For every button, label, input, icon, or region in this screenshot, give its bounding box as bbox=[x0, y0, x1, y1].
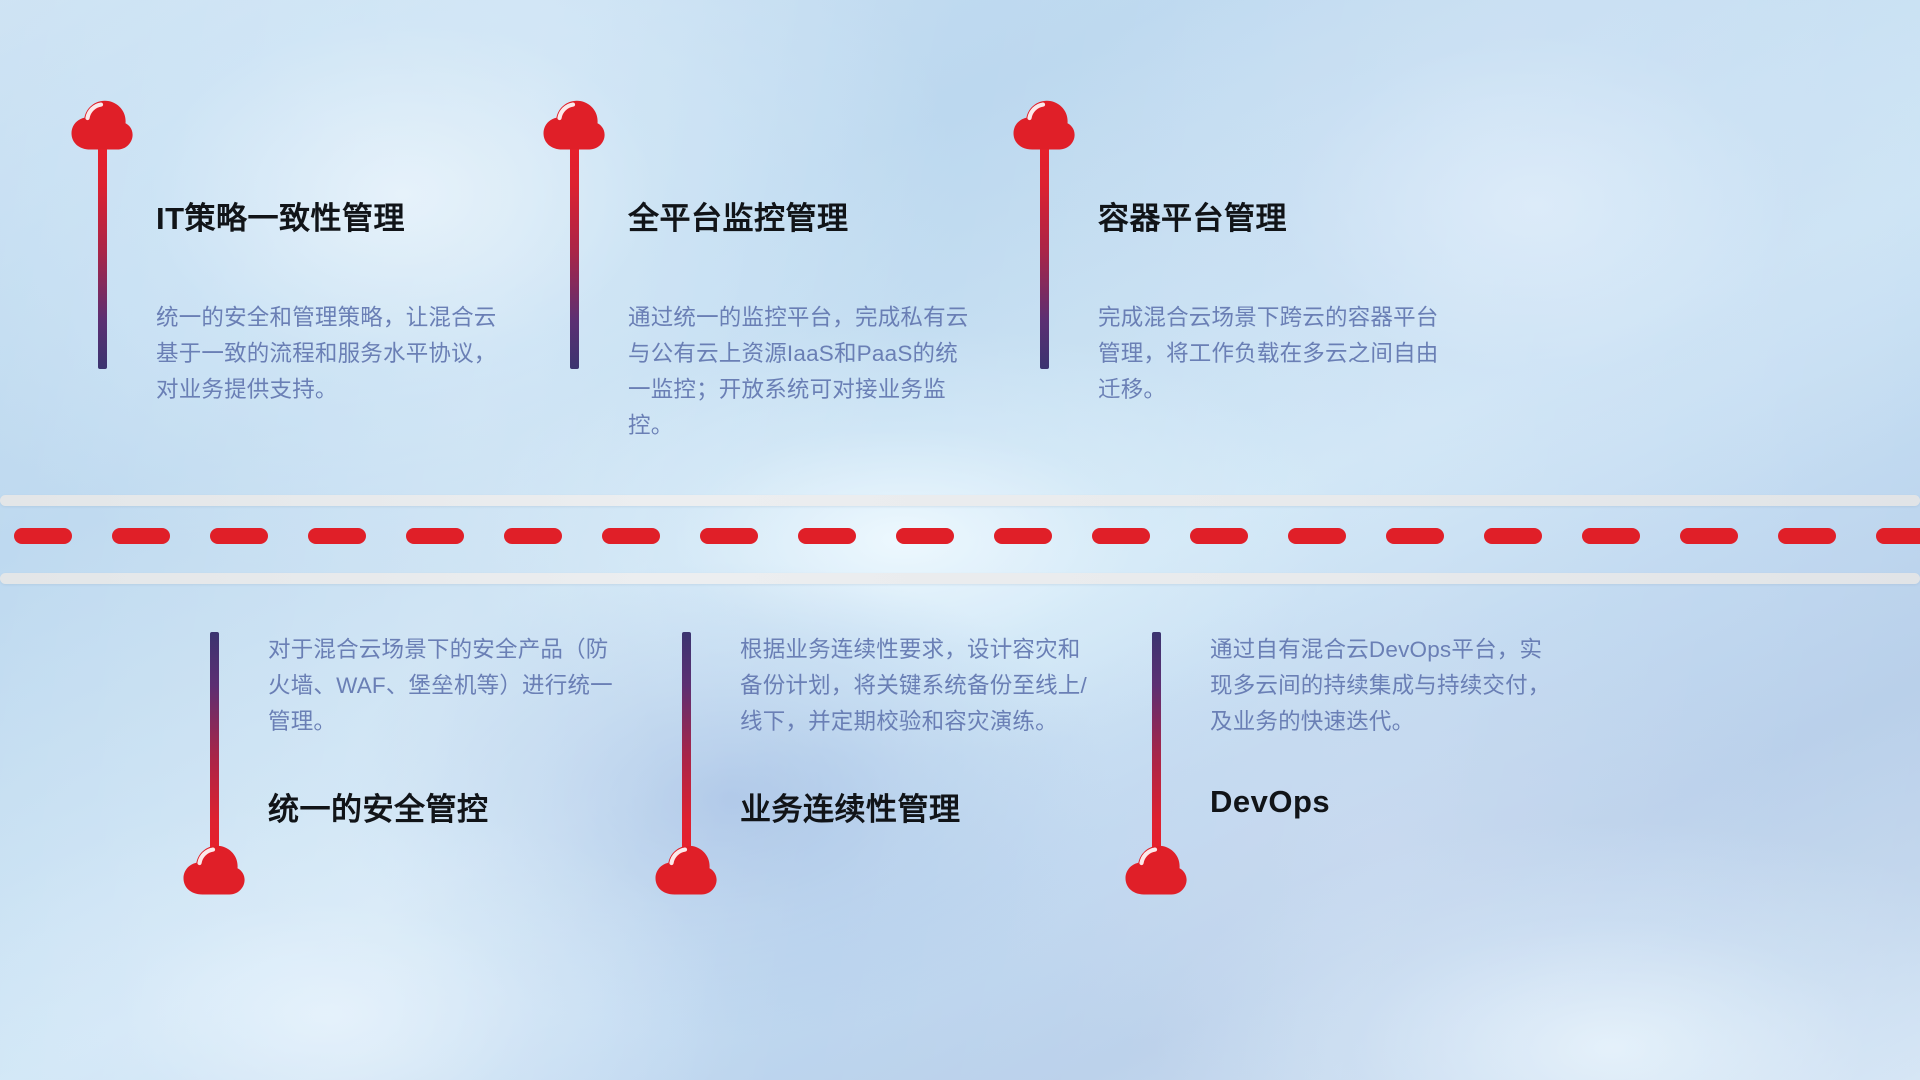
road-dash bbox=[1386, 528, 1444, 544]
road-center-dashes bbox=[0, 528, 1920, 544]
connector-stem bbox=[1040, 145, 1049, 369]
road-dash bbox=[1876, 528, 1920, 544]
cloud-pin-icon bbox=[1012, 99, 1076, 151]
road-dash bbox=[700, 528, 758, 544]
road-dash bbox=[308, 528, 366, 544]
road-dash bbox=[994, 528, 1052, 544]
connector-stem bbox=[570, 145, 579, 369]
road-dash bbox=[1484, 528, 1542, 544]
road-dash bbox=[1680, 528, 1738, 544]
road-dash bbox=[14, 528, 72, 544]
cloud-pin-icon bbox=[182, 844, 246, 896]
road-divider bbox=[0, 480, 1920, 600]
road-dash bbox=[112, 528, 170, 544]
column-body: 通过自有混合云DevOps平台，实现多云间的持续集成与持续交付，及业务的快速迭代… bbox=[1210, 632, 1562, 740]
road-dash bbox=[798, 528, 856, 544]
cloud-pin-icon bbox=[1124, 844, 1188, 896]
column-title: IT策略一致性管理 bbox=[156, 193, 405, 238]
road-dash bbox=[406, 528, 464, 544]
road-dash bbox=[210, 528, 268, 544]
connector-stem bbox=[1152, 632, 1161, 854]
column-body: 完成混合云场景下跨云的容器平台管理，将工作负载在多云之间自由迁移。 bbox=[1098, 300, 1450, 408]
column-title: 业务连续性管理 bbox=[740, 784, 961, 829]
column-body: 对于混合云场景下的安全产品（防火墙、WAF、堡垒机等）进行统一管理。 bbox=[268, 632, 620, 740]
infographic-canvas: IT策略一致性管理 统一的安全和管理策略，让混合云基于一致的流程和服务水平协议，… bbox=[0, 0, 1920, 1080]
road-dash bbox=[602, 528, 660, 544]
connector-stem bbox=[682, 632, 691, 854]
column-body: 通过统一的监控平台，完成私有云与公有云上资源IaaS和PaaS的统一监控；开放系… bbox=[628, 300, 980, 444]
road-dash bbox=[504, 528, 562, 544]
road-dash bbox=[1288, 528, 1346, 544]
cloud-pin-icon bbox=[542, 99, 606, 151]
cloud-pin-icon bbox=[70, 99, 134, 151]
column-body: 根据业务连续性要求，设计容灾和备份计划，将关键系统备份至线上/线下，并定期校验和… bbox=[740, 632, 1092, 740]
road-dash bbox=[1582, 528, 1640, 544]
column-title: 容器平台管理 bbox=[1098, 193, 1287, 238]
road-dash bbox=[1092, 528, 1150, 544]
column-body: 统一的安全和管理策略，让混合云基于一致的流程和服务水平协议，对业务提供支持。 bbox=[156, 300, 508, 408]
road-edge-line-bottom bbox=[0, 573, 1920, 584]
column-title: 全平台监控管理 bbox=[628, 193, 849, 238]
connector-stem bbox=[210, 632, 219, 854]
connector-stem bbox=[98, 145, 107, 369]
road-dash bbox=[896, 528, 954, 544]
road-edge-line-top bbox=[0, 495, 1920, 506]
road-dash bbox=[1778, 528, 1836, 544]
column-title: DevOps bbox=[1210, 784, 1330, 820]
cloud-pin-icon bbox=[654, 844, 718, 896]
road-dash bbox=[1190, 528, 1248, 544]
column-title: 统一的安全管控 bbox=[268, 784, 489, 829]
